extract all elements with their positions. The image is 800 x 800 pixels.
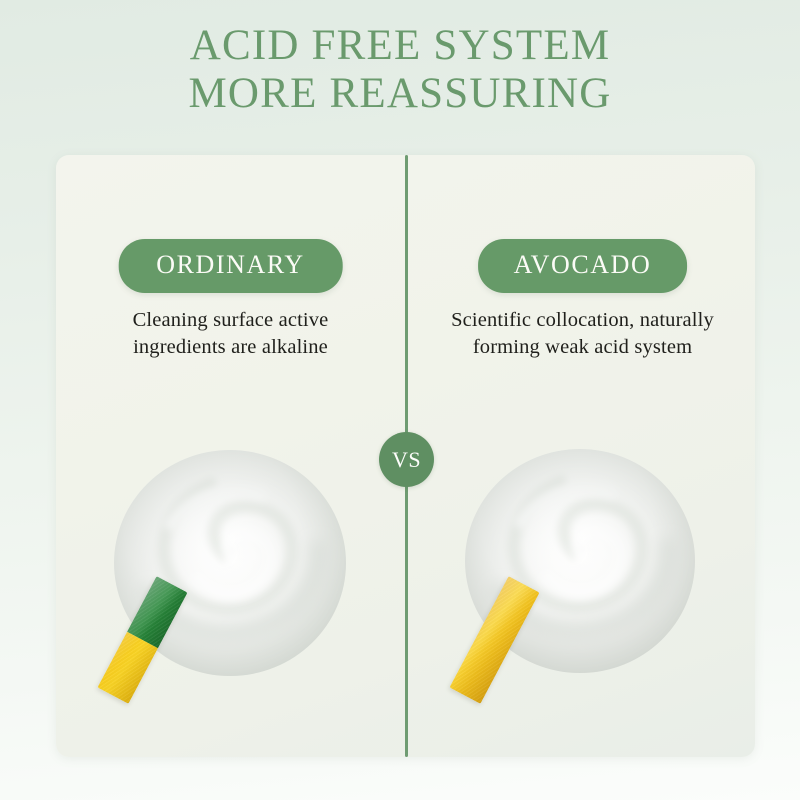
comparison-column-ordinary: ORDINARY Cleaning surface active ingredi… <box>56 155 405 757</box>
title-line-2: MORE REASSURING <box>0 70 800 118</box>
comparison-card: ORDINARY Cleaning surface active ingredi… <box>56 155 755 757</box>
description-avocado: Scientific collocation, naturally formin… <box>408 307 757 361</box>
badge-avocado: AVOCADO <box>478 239 688 293</box>
foam-area-ordinary <box>56 427 405 697</box>
description-avocado-line-1: Scientific collocation, naturally <box>408 307 757 334</box>
description-ordinary-line-2: ingredients are alkaline <box>56 334 405 361</box>
badge-ordinary: ORDINARY <box>118 239 343 293</box>
promo-graphic: ACID FREE SYSTEM MORE REASSURING ORDINAR… <box>0 0 800 800</box>
description-avocado-line-2: forming weak acid system <box>408 334 757 361</box>
vs-badge: VS <box>379 432 434 487</box>
comparison-column-avocado: AVOCADO Scientific collocation, naturall… <box>408 155 757 757</box>
foam-area-avocado <box>408 427 757 697</box>
description-ordinary-line-1: Cleaning surface active <box>56 307 405 334</box>
page-title: ACID FREE SYSTEM MORE REASSURING <box>0 22 800 118</box>
title-line-1: ACID FREE SYSTEM <box>0 22 800 70</box>
description-ordinary: Cleaning surface active ingredients are … <box>56 307 405 361</box>
